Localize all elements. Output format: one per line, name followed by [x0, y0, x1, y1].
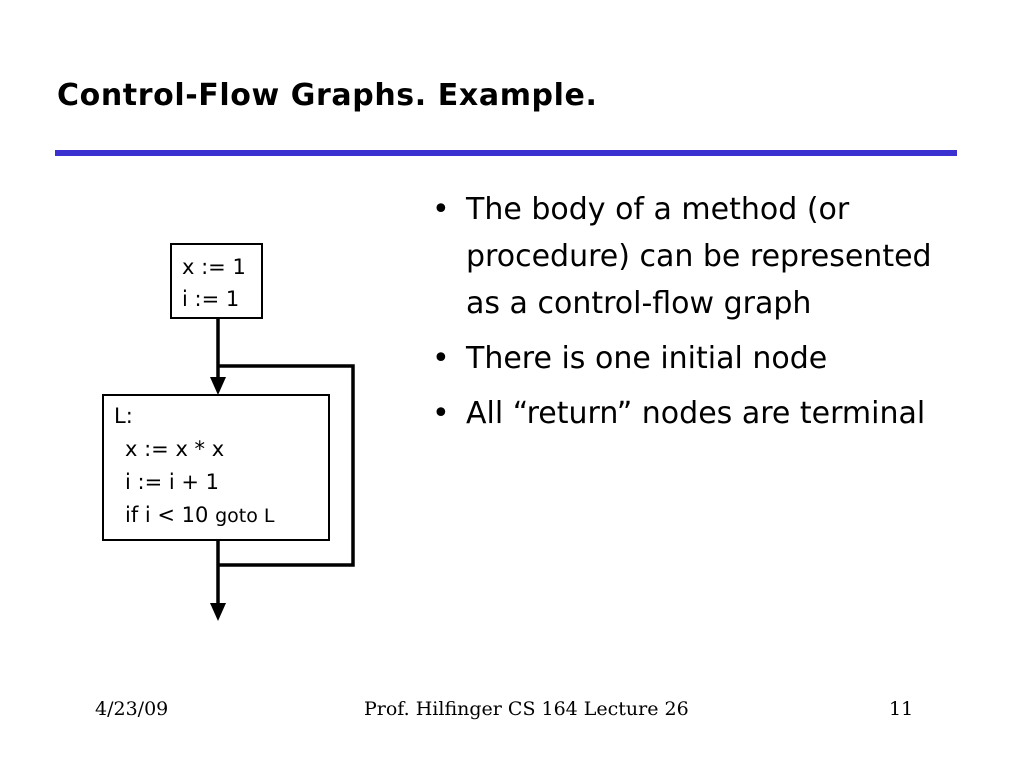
flow-graph-edges: [0, 0, 420, 768]
cfg-loop-line-2: i := i + 1: [114, 466, 328, 499]
bullet-text: All “return” nodes are terminal: [466, 390, 964, 437]
cfg-entry-line-1: x := 1: [182, 251, 261, 283]
bullet-text: There is one initial node: [466, 335, 964, 382]
control-flow-graph: x := 1 i := 1 L: x := x * x i := i + 1 i…: [0, 0, 420, 768]
footer-attribution: Prof. Hilfinger CS 164 Lecture 26: [364, 698, 689, 720]
list-item: • All “return” nodes are terminal: [424, 390, 964, 437]
cfg-loop-branch: if i < 10 goto L: [114, 499, 328, 533]
arrowhead-exit: [210, 603, 226, 621]
cfg-node-loop[interactable]: L: x := x * x i := i + 1 if i < 10 goto …: [102, 394, 330, 541]
list-item: • There is one initial node: [424, 335, 964, 382]
slide-canvas: Control-Flow Graphs. Example. x := 1 i :…: [0, 0, 1024, 768]
cfg-node-entry[interactable]: x := 1 i := 1: [170, 243, 263, 319]
slide-footer: 4/23/09 Prof. Hilfinger CS 164 Lecture 2…: [0, 698, 1024, 726]
cfg-loop-label: L:: [114, 400, 328, 433]
bullet-list: • The body of a method (or procedure) ca…: [424, 186, 964, 445]
bullet-text: The body of a method (or procedure) can …: [466, 186, 964, 327]
list-item: • The body of a method (or procedure) ca…: [424, 186, 964, 327]
bullet-marker-icon: •: [432, 186, 450, 233]
bullet-marker-icon: •: [432, 335, 450, 382]
cfg-entry-line-2: i := 1: [182, 283, 261, 315]
footer-page-number: 11: [889, 698, 913, 720]
cfg-loop-branch-goto: goto L: [215, 505, 274, 527]
cfg-loop-branch-condition: if i < 10: [125, 503, 215, 527]
bullet-marker-icon: •: [432, 390, 450, 437]
cfg-loop-line-1: x := x * x: [114, 433, 328, 466]
footer-date: 4/23/09: [95, 698, 168, 720]
arrowhead-entry-to-loop: [210, 377, 226, 395]
